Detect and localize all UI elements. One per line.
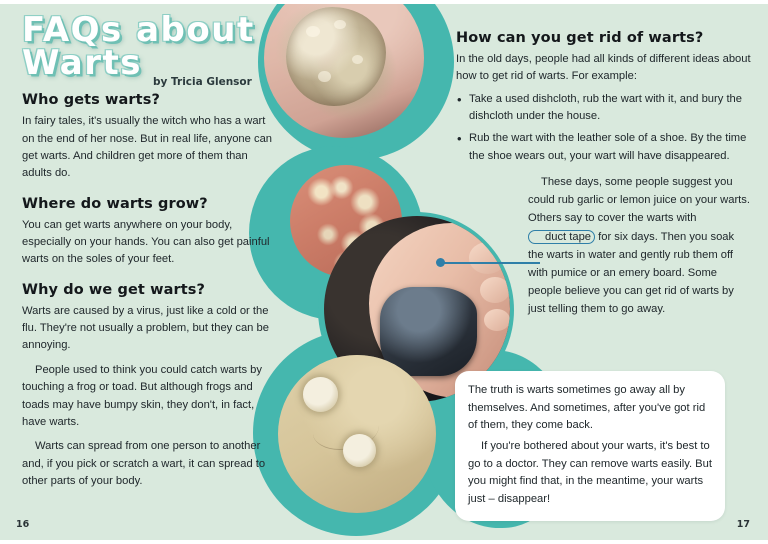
callout-leader-line <box>440 262 540 264</box>
page-number-right: 17 <box>737 519 750 530</box>
paragraph-warts-spread: Warts can spread from one person to anot… <box>22 438 278 490</box>
paragraph-modern-remedies: These days, some people suggest you coul… <box>528 173 752 318</box>
section-heading-how-get-rid-of-warts: How can you get rid of warts? <box>456 30 752 46</box>
magazine-page-spread: FAQs about Warts by Tricia Glensor Who g… <box>0 0 768 544</box>
paragraph-old-days-intro: In the old days, people had all kinds of… <box>456 51 752 86</box>
paragraph-where-do-warts-grow: You can get warts anywhere on your body,… <box>22 217 278 269</box>
right-text-column: How can you get rid of warts? In the old… <box>456 30 752 318</box>
paragraph-modern-remedies-part-1: These days, some people suggest you coul… <box>528 176 750 224</box>
callout-anchor-dot <box>436 258 445 267</box>
article-title-line-2: Warts <box>22 47 278 80</box>
page-number-left: 16 <box>16 519 29 530</box>
article-byline: by Tricia Glensor <box>153 76 252 88</box>
truth-paragraph-1: The truth is warts sometimes go away all… <box>468 382 712 435</box>
paragraph-who-gets-warts: In fairy tales, it's usually the witch w… <box>22 113 278 182</box>
duct-tape-callout-term: duct tape <box>528 230 595 245</box>
truth-paragraph-2: If you're bothered about your warts, it'… <box>468 438 712 509</box>
truth-callout-box: The truth is warts sometimes go away all… <box>455 371 725 521</box>
article-title-block: FAQs about Warts by Tricia Glensor <box>22 14 278 79</box>
section-heading-why-do-we-get-warts: Why do we get warts? <box>22 282 278 298</box>
remedies-bullet-list: Take a used dishcloth, rub the wart with… <box>456 91 752 165</box>
list-item: Rub the wart with the leather sole of a … <box>456 130 752 165</box>
article-title-line-1: FAQs about <box>22 14 278 47</box>
plantar-warts-photo <box>278 355 436 513</box>
section-heading-where-do-warts-grow: Where do warts grow? <box>22 196 278 212</box>
list-item: Take a used dishcloth, rub the wart with… <box>456 91 752 126</box>
paragraph-frog-toad: People used to think you could catch war… <box>22 362 278 431</box>
paragraph-warts-virus: Warts are caused by a virus, just like a… <box>22 303 278 355</box>
left-text-column: FAQs about Warts by Tricia Glensor Who g… <box>22 14 278 492</box>
section-heading-who-gets-warts: Who gets warts? <box>22 92 278 108</box>
